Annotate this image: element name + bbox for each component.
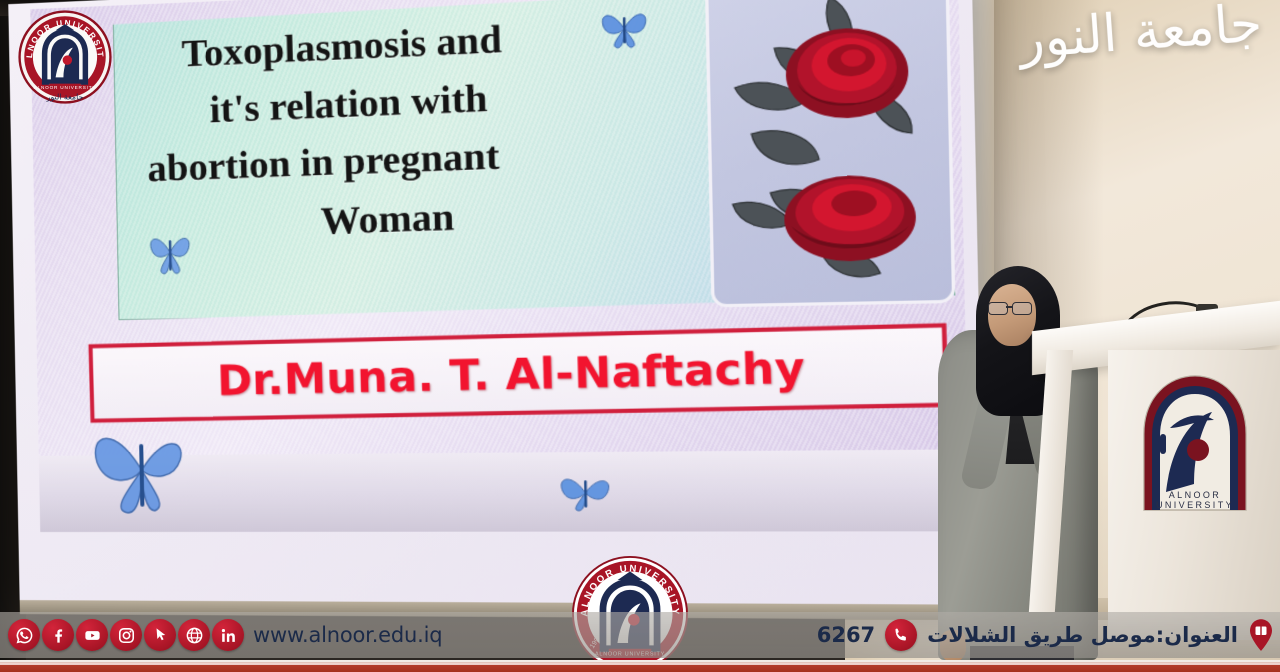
svg-text:UNIVERSITY: UNIVERSITY <box>1156 500 1234 510</box>
footer-social-group: www.alnoor.edu.iq <box>0 619 442 651</box>
svg-text:ALNOOR: ALNOOR <box>1169 490 1221 500</box>
screen-frame: Toxoplasmosis and it's relation with abo… <box>8 0 985 609</box>
svg-text:ALNOOR UNIVERSITY: ALNOOR UNIVERSITY <box>34 85 97 90</box>
slide-bottom-bar <box>39 449 970 532</box>
slide-title: Toxoplasmosis and it's relation with abo… <box>69 7 618 255</box>
tiktok-cursor-icon[interactable] <box>144 619 176 651</box>
presentation-slide: Toxoplasmosis and it's relation with abo… <box>30 0 969 532</box>
bottom-red-strip <box>0 660 1280 672</box>
phone-icon[interactable] <box>885 619 917 651</box>
website-globe-icon[interactable] <box>178 619 210 651</box>
alnoor-logo-top-left: ALNOOR UNIVERSITY ALNOOR UNIVERSITY جامع… <box>18 10 112 104</box>
eyeglasses-icon <box>988 302 1032 313</box>
svg-text:جامعة النور: جامعة النور <box>46 92 84 101</box>
presenter-name: Dr.Muna. T. Al-Naftachy <box>216 343 805 406</box>
presenter-name-banner: Dr.Muna. T. Al-Naftachy <box>88 323 948 423</box>
footer-contact-group: 6267 العنوان:موصل طريق الشلالات <box>817 618 1280 652</box>
location-pin-icon[interactable] <box>1248 618 1274 652</box>
roses-graphic <box>705 0 956 307</box>
presenter-figure <box>930 258 1110 672</box>
linkedin-icon[interactable] <box>212 619 244 651</box>
screenshot-root: Toxoplasmosis and it's relation with abo… <box>0 0 1280 672</box>
instagram-icon[interactable] <box>110 619 142 651</box>
facebook-icon[interactable] <box>42 619 74 651</box>
address-text: العنوان:موصل طريق الشلالات <box>927 623 1238 647</box>
youtube-icon[interactable] <box>76 619 108 651</box>
footer-bar: www.alnoor.edu.iq 6267 العنوان:موصل طريق… <box>0 612 1280 658</box>
presenter-face <box>988 284 1036 346</box>
whatsapp-icon[interactable] <box>8 619 40 651</box>
projection-screen: Toxoplasmosis and it's relation with abo… <box>8 0 985 609</box>
podium-emblem: ALNOOR UNIVERSITY <box>1136 372 1254 512</box>
website-url[interactable]: www.alnoor.edu.iq <box>253 623 442 647</box>
phone-number: 6267 <box>817 623 875 647</box>
